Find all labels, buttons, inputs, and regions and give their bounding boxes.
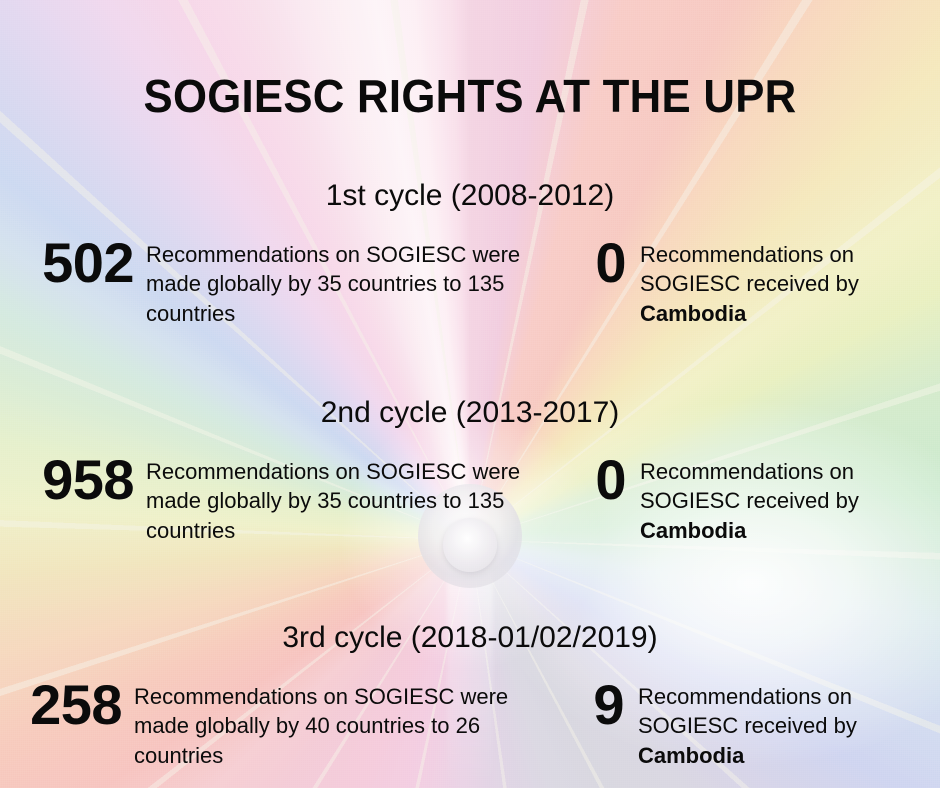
country-stat-text-3: Recommendations on SOGIESC received by C… (638, 679, 918, 770)
cycle-heading-1: 1st cycle (2008-2012) (0, 180, 940, 212)
global-stat-text-lead-3: Recommendations on SOGIESC were made glo… (134, 684, 508, 768)
global-stat-text-lead-1: Recommendations on SOGIESC were made glo… (146, 242, 520, 326)
global-stat-number-3: 258 (14, 679, 134, 731)
country-name-3: Cambodia (638, 743, 744, 768)
global-stat-text-3: Recommendations on SOGIESC were made glo… (134, 679, 534, 770)
cycle-heading-3: 3rd cycle (2018-01/02/2019) (0, 622, 940, 654)
country-stat-text-lead-2: Recommendations on SOGIESC received by (640, 459, 859, 513)
cycle-3-stats: 258 Recommendations on SOGIESC were made… (0, 679, 940, 788)
cycle-2-stats: 958 Recommendations on SOGIESC were made… (0, 454, 940, 594)
country-stat-3: 9 Recommendations on SOGIESC received by… (578, 679, 918, 770)
global-stat-text-2: Recommendations on SOGIESC were made glo… (146, 454, 542, 545)
global-stat-text-1: Recommendations on SOGIESC were made glo… (146, 237, 542, 328)
global-stat-1: 502 Recommendations on SOGIESC were made… (22, 237, 542, 328)
country-stat-number-1: 0 (580, 237, 640, 289)
page-title: SOGIESC RIGHTS AT THE UPR (24, 73, 917, 119)
country-stat-2: 0 Recommendations on SOGIESC received by… (580, 454, 920, 545)
country-stat-text-2: Recommendations on SOGIESC received by C… (640, 454, 920, 545)
global-stat-2: 958 Recommendations on SOGIESC were made… (22, 454, 542, 545)
global-stat-number-2: 958 (22, 454, 146, 506)
global-stat-text-lead-2: Recommendations on SOGIESC were made glo… (146, 459, 520, 543)
country-stat-text-1: Recommendations on SOGIESC received by C… (640, 237, 920, 328)
country-stat-1: 0 Recommendations on SOGIESC received by… (580, 237, 920, 328)
global-stat-number-1: 502 (22, 237, 146, 289)
country-name-1: Cambodia (640, 301, 746, 326)
country-stat-number-2: 0 (580, 454, 640, 506)
cycle-section-1: 1st cycle (2008-2012) 502 Recommendation… (0, 155, 940, 377)
global-stat-3: 258 Recommendations on SOGIESC were made… (14, 679, 534, 770)
infographic-poster: SOGIESC RIGHTS AT THE UPR 1st cycle (200… (0, 0, 940, 788)
cycle-1-stats: 502 Recommendations on SOGIESC were made… (0, 237, 940, 377)
country-stat-number-3: 9 (578, 679, 638, 731)
country-stat-text-lead-1: Recommendations on SOGIESC received by (640, 242, 859, 296)
country-name-2: Cambodia (640, 518, 746, 543)
cycle-section-2: 2nd cycle (2013-2017) 958 Recommendation… (0, 372, 940, 594)
country-stat-text-lead-3: Recommendations on SOGIESC received by (638, 684, 857, 738)
cycle-heading-2: 2nd cycle (2013-2017) (0, 397, 940, 429)
poster-content: SOGIESC RIGHTS AT THE UPR 1st cycle (200… (0, 0, 940, 788)
cycle-section-3: 3rd cycle (2018-01/02/2019) 258 Recommen… (0, 597, 940, 788)
